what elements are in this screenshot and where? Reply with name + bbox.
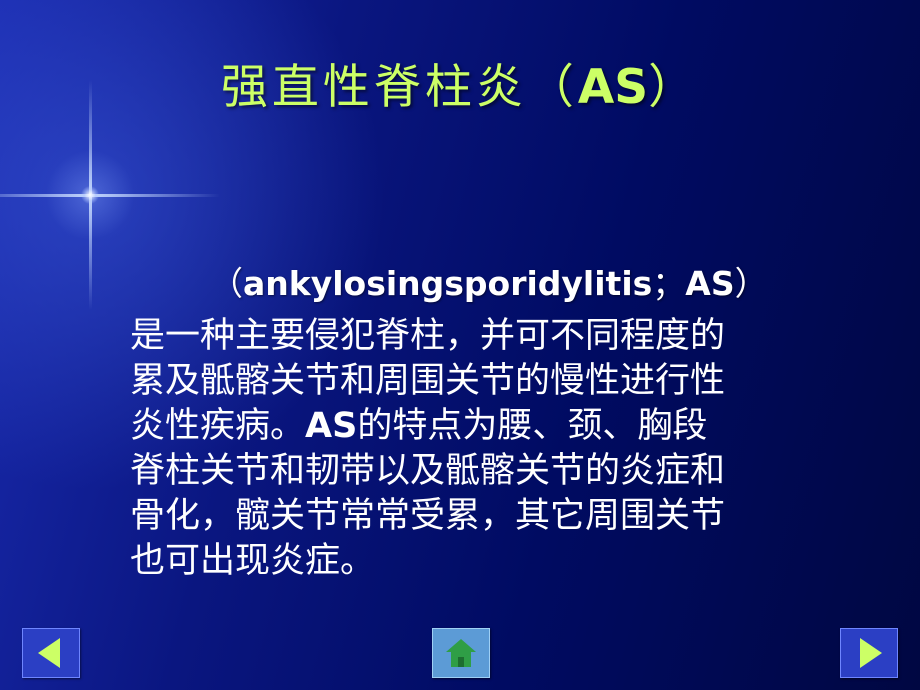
body-line-3-prefix: 炎性疾病。 xyxy=(130,406,305,446)
body-line-6: 也可出现炎症。 xyxy=(130,539,890,584)
subtitle-close-paren: ） xyxy=(735,264,768,303)
starburst-ray-horizontal xyxy=(0,194,220,197)
subtitle-abbrev: AS xyxy=(685,264,734,303)
subtitle-latin-term: ankylosingsporidylitis xyxy=(243,264,652,303)
title-latin: AS xyxy=(578,60,648,115)
subtitle-open-paren: （ xyxy=(210,264,243,303)
slide-canvas: 强直性脊柱炎（AS） （ankylosingsporidylitis；AS） 是… xyxy=(0,0,920,690)
arrow-right-icon xyxy=(860,638,882,668)
body-line-2: 累及骶髂关节和周围关节的慢性进行性 xyxy=(130,359,890,404)
subtitle-line: （ankylosingsporidylitis；AS） xyxy=(130,262,890,306)
next-slide-button[interactable] xyxy=(840,628,898,678)
title-cjk: 强直性脊柱炎（ xyxy=(221,60,578,115)
body-inline-abbrev: AS xyxy=(305,406,357,446)
home-button[interactable] xyxy=(432,628,490,678)
body-line-4: 脊柱关节和韧带以及骶髂关节的炎症和 xyxy=(130,449,890,494)
subtitle-separator: ； xyxy=(652,264,685,303)
title-cjk-tail: ） xyxy=(648,60,699,115)
body-line-1: 是一种主要侵犯脊柱，并可不同程度的 xyxy=(130,314,890,359)
slide-title: 强直性脊柱炎（AS） xyxy=(0,62,920,114)
arrow-left-icon xyxy=(38,638,60,668)
body-line-5: 骨化，髋关节常常受累，其它周围关节 xyxy=(130,494,890,539)
body-line-3: 炎性疾病。AS的特点为腰、颈、胸段 xyxy=(130,404,890,449)
body-line-3-suffix: 的特点为腰、颈、胸段 xyxy=(357,406,707,446)
home-icon-door xyxy=(458,657,464,667)
starburst-core xyxy=(81,186,99,204)
slide-body: （ankylosingsporidylitis；AS） 是一种主要侵犯脊柱，并可… xyxy=(130,262,890,584)
home-icon xyxy=(446,639,476,667)
previous-slide-button[interactable] xyxy=(22,628,80,678)
